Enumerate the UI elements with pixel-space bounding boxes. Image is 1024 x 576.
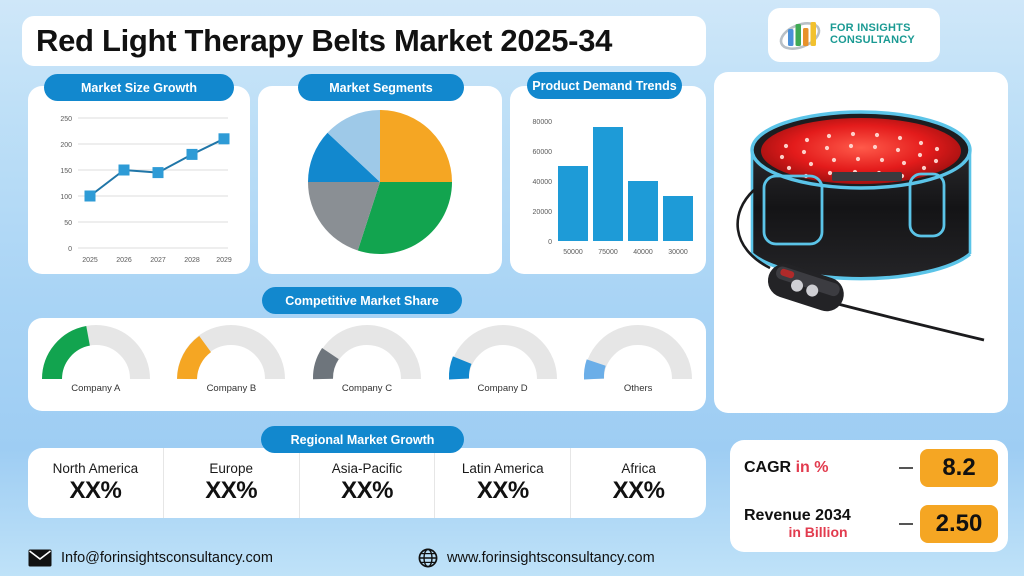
svg-text:250: 250 [60,116,72,123]
region-value: XX% [477,477,529,505]
region-value: XX% [205,477,257,505]
chart-card-competitive-market-share: Company A Company B Company C [28,318,706,411]
kpi-row-cagr: CAGR in % 8.2 [730,440,1008,496]
svg-text:100: 100 [60,194,72,201]
kpi-revenue-value: 2.50 [920,505,998,543]
gauge-arc [311,325,423,381]
region-cell-africa: Africa XX% [571,448,706,518]
svg-text:0: 0 [68,246,72,253]
gauge-arc [447,325,559,381]
pie-chart [258,86,502,274]
product-illustration [714,72,1008,413]
gauge-arc [582,325,694,381]
logo-line-2: CONSULTANCY [830,35,915,47]
chart-card-product-demand-trends: 80000 60000 40000 20000 0 50000 75000 40… [510,86,706,274]
region-value: XX% [341,477,393,505]
gauge-company-a: Company A [28,318,164,411]
svg-text:20000: 20000 [533,209,553,216]
gauge-others: Others [570,318,706,411]
svg-text:2027: 2027 [150,257,166,264]
logo-bars-icon [778,15,822,55]
page-title: Red Light Therapy Belts Market 2025-34 [22,16,706,66]
chart-card-market-size-growth: 250 200 150 100 50 0 2025 2026 2027 2028… [28,86,250,274]
region-cell-north-america: North America XX% [28,448,164,518]
bar-chart: 80000 60000 40000 20000 0 50000 75000 40… [510,86,706,274]
svg-text:200: 200 [60,142,72,149]
region-row: North America XX% Europe XX% Asia-Pacifi… [28,448,706,518]
region-name: Asia-Pacific [332,461,403,476]
kpi-revenue-accent: in Billion [744,525,892,541]
footer-website[interactable]: www.forinsightsconsultancy.com [418,548,655,568]
kpi-dash-separator [899,523,913,525]
region-cell-europe: Europe XX% [164,448,300,518]
svg-text:80000: 80000 [533,119,553,126]
region-value: XX% [69,477,121,505]
region-name: North America [53,461,139,476]
kpi-label-revenue: Revenue 2034 in Billion [744,507,892,541]
kpi-cagr-title: CAGR in % [744,459,892,477]
badge-product-demand-trends: Product Demand Trends [527,72,682,99]
badge-regional-market-growth: Regional Market Growth [261,426,464,453]
svg-text:75000: 75000 [598,249,618,256]
infographic-canvas: Red Light Therapy Belts Market 2025-34 F… [0,0,1024,576]
gauge-label: Company B [207,383,257,394]
svg-text:2026: 2026 [116,257,132,264]
kpi-revenue-main: Revenue 2034 [744,507,892,525]
svg-text:60000: 60000 [533,149,553,156]
region-name: Europe [209,461,253,476]
product-image-card [714,72,1008,413]
kpi-cagr-accent: in % [796,459,829,476]
globe-icon [418,548,438,568]
regional-market-growth-card: North America XX% Europe XX% Asia-Pacifi… [28,448,706,518]
svg-text:40000: 40000 [633,249,653,256]
gauge-label: Company D [477,383,527,394]
badge-market-segments: Market Segments [298,74,464,101]
svg-text:0: 0 [548,239,552,246]
gauge-company-c: Company C [299,318,435,411]
gauge-arc [175,325,287,381]
svg-text:2029: 2029 [216,257,232,264]
line-chart: 250 200 150 100 50 0 2025 2026 2027 2028… [28,86,250,274]
svg-text:2028: 2028 [184,257,200,264]
region-name: Latin America [462,461,544,476]
kpi-dash-separator [899,467,913,469]
svg-text:2025: 2025 [82,257,98,264]
svg-text:50000: 50000 [563,249,583,256]
kpi-cagr-value: 8.2 [920,449,998,487]
footer-website-text: www.forinsightsconsultancy.com [447,550,655,566]
footer-email-text: Info@forinsightsconsultancy.com [61,550,273,566]
gauge-label: Company C [342,383,392,394]
brand-logo: FOR INSIGHTS CONSULTANCY [768,8,940,62]
gauge-row: Company A Company B Company C [28,318,706,411]
svg-text:150: 150 [60,168,72,175]
svg-text:40000: 40000 [533,179,553,186]
badge-market-size-growth: Market Size Growth [44,74,234,101]
region-value: XX% [613,477,665,505]
gauge-company-d: Company D [435,318,571,411]
gauge-label: Others [624,383,653,394]
kpi-card: CAGR in % 8.2 Revenue 2034 in Billion 2.… [730,440,1008,552]
region-name: Africa [621,461,656,476]
svg-text:50: 50 [64,220,72,227]
region-cell-asia-pacific: Asia-Pacific XX% [300,448,436,518]
kpi-label-cagr: CAGR in % [744,459,892,477]
kpi-cagr-main: CAGR [744,459,791,476]
gauge-company-b: Company B [164,318,300,411]
logo-text: FOR INSIGHTS CONSULTANCY [830,23,915,46]
page-title-text: Red Light Therapy Belts Market 2025-34 [36,23,612,59]
footer-email[interactable]: Info@forinsightsconsultancy.com [28,549,273,567]
badge-competitive-market-share: Competitive Market Share [262,287,462,314]
gauge-label: Company A [71,383,120,394]
red-light-therapy-belt-image [714,72,1008,413]
chart-card-market-segments [258,86,502,274]
svg-text:30000: 30000 [668,249,688,256]
envelope-icon [28,549,52,567]
footer: Info@forinsightsconsultancy.com www.fori… [0,540,1024,576]
region-cell-latin-america: Latin America XX% [435,448,571,518]
gauge-arc [40,325,152,381]
